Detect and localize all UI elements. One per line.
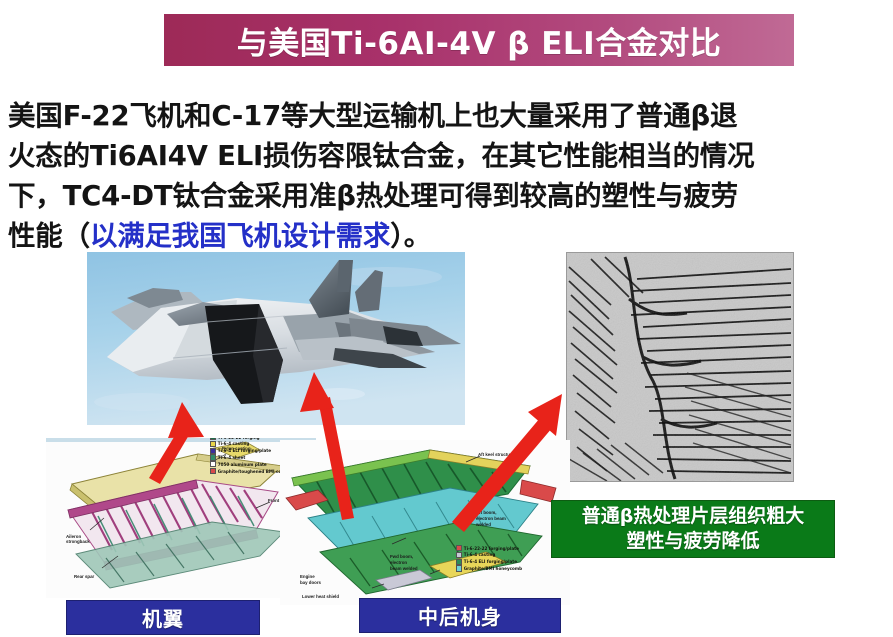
green-callout-box: 普通β热处理片层组织粗大 塑性与疲劳降低 — [551, 500, 835, 558]
legend-label: Ti-6-4 ELI forging/plate — [464, 559, 517, 564]
microstructure-image — [566, 252, 794, 482]
svg-text:Engine: Engine — [300, 574, 315, 579]
legend-item: Ti-6-22-22 forging/plate — [456, 545, 522, 551]
svg-text:Aft boom,: Aft boom, — [476, 510, 497, 515]
fuselage-diagram-legend: Ti-6-22-22 forging/plate Ti-6-4 casting … — [456, 545, 522, 572]
svg-text:bay doors: bay doors — [300, 580, 322, 585]
svg-text:strongback: strongback — [66, 539, 90, 544]
body-line-4-suffix: ）。 — [390, 220, 431, 252]
legend-swatch — [210, 454, 216, 460]
legend-label: Ti-6-22-22 forging — [218, 438, 260, 440]
green-callout-line-2: 塑性与疲劳降低 — [626, 529, 759, 554]
legend-swatch — [210, 461, 216, 467]
legend-label: Ti-6-22-22 forging/plate — [464, 546, 519, 551]
legend-swatch — [210, 468, 216, 474]
slide-canvas: 与美国Ti-6AI-4V β ELI合金对比 美国F-22飞机和C-17等大型运… — [0, 0, 893, 637]
wing-label-text: 机翼 — [142, 603, 184, 632]
legend-item: Graphite/BMI honeycomb — [456, 565, 522, 571]
slide-title-bar: 与美国Ti-6AI-4V β ELI合金对比 — [164, 14, 794, 66]
body-line-4-highlight: 以满足我国飞机设计需求 — [90, 220, 390, 252]
svg-text:Aft keel structure: Aft keel structure — [478, 452, 515, 457]
aircraft-photo — [87, 252, 465, 425]
wing-structure-diagram: Aileron strongback Rear spar Pylon casti… — [46, 438, 316, 598]
legend-swatch — [456, 565, 462, 571]
legend-swatch — [456, 559, 462, 565]
fuselage-label-box: 中后机身 — [359, 598, 561, 633]
svg-text:electron: electron — [390, 560, 407, 565]
body-paragraph: 美国F-22飞机和C-17等大型运输机上也大量采用了普通β退 火态的Ti6AI4… — [8, 96, 886, 256]
legend-swatch — [210, 448, 216, 454]
green-callout-line-1: 普通β热处理片层组织粗大 — [582, 504, 805, 529]
svg-text:Rear spar: Rear spar — [74, 574, 95, 579]
legend-label: Ti-6-4 sheet — [218, 455, 246, 460]
svg-text:Fwd boom,: Fwd boom, — [390, 554, 413, 559]
legend-label: Ti-6-4 casting — [464, 552, 496, 557]
svg-text:welded: welded — [475, 522, 491, 527]
svg-text:beam welded: beam welded — [390, 566, 418, 571]
wing-label-box: 机翼 — [66, 600, 260, 635]
body-line-2: 火态的Ti6AI4V ELI损伤容限钛合金，在其它性能相当的情况 — [8, 140, 754, 172]
svg-text:electron beam: electron beam — [476, 516, 506, 521]
body-line-1: 美国F-22飞机和C-17等大型运输机上也大量采用了普通β退 — [8, 100, 737, 132]
legend-label: 7050 aluminum plate — [218, 462, 267, 467]
legend-swatch — [210, 441, 216, 447]
legend-label: Ti-6-4 casting — [218, 441, 250, 446]
legend-label: Graphite/BMI honeycomb — [464, 566, 522, 571]
svg-text:Lower heat shield: Lower heat shield — [302, 594, 339, 599]
legend-swatch — [456, 552, 462, 558]
legend-item: Ti-6-4 casting — [456, 552, 522, 558]
legend-label: Ti-6-4 ELI forging/plate — [218, 448, 271, 453]
legend-item: Ti-6-4 ELI forging/plate — [456, 559, 522, 565]
legend-swatch — [456, 545, 462, 551]
slide-title: 与美国Ti-6AI-4V β ELI合金对比 — [237, 18, 721, 63]
body-line-3: 下，TC4-DT钛合金采用准β热处理可得到较高的塑性与疲劳 — [8, 180, 738, 212]
fuselage-label-text: 中后机身 — [418, 601, 502, 630]
fuselage-structure-diagram: Aft keel structure Aft boom, electron be… — [280, 440, 570, 605]
body-line-4-prefix: 性能（ — [8, 220, 90, 252]
